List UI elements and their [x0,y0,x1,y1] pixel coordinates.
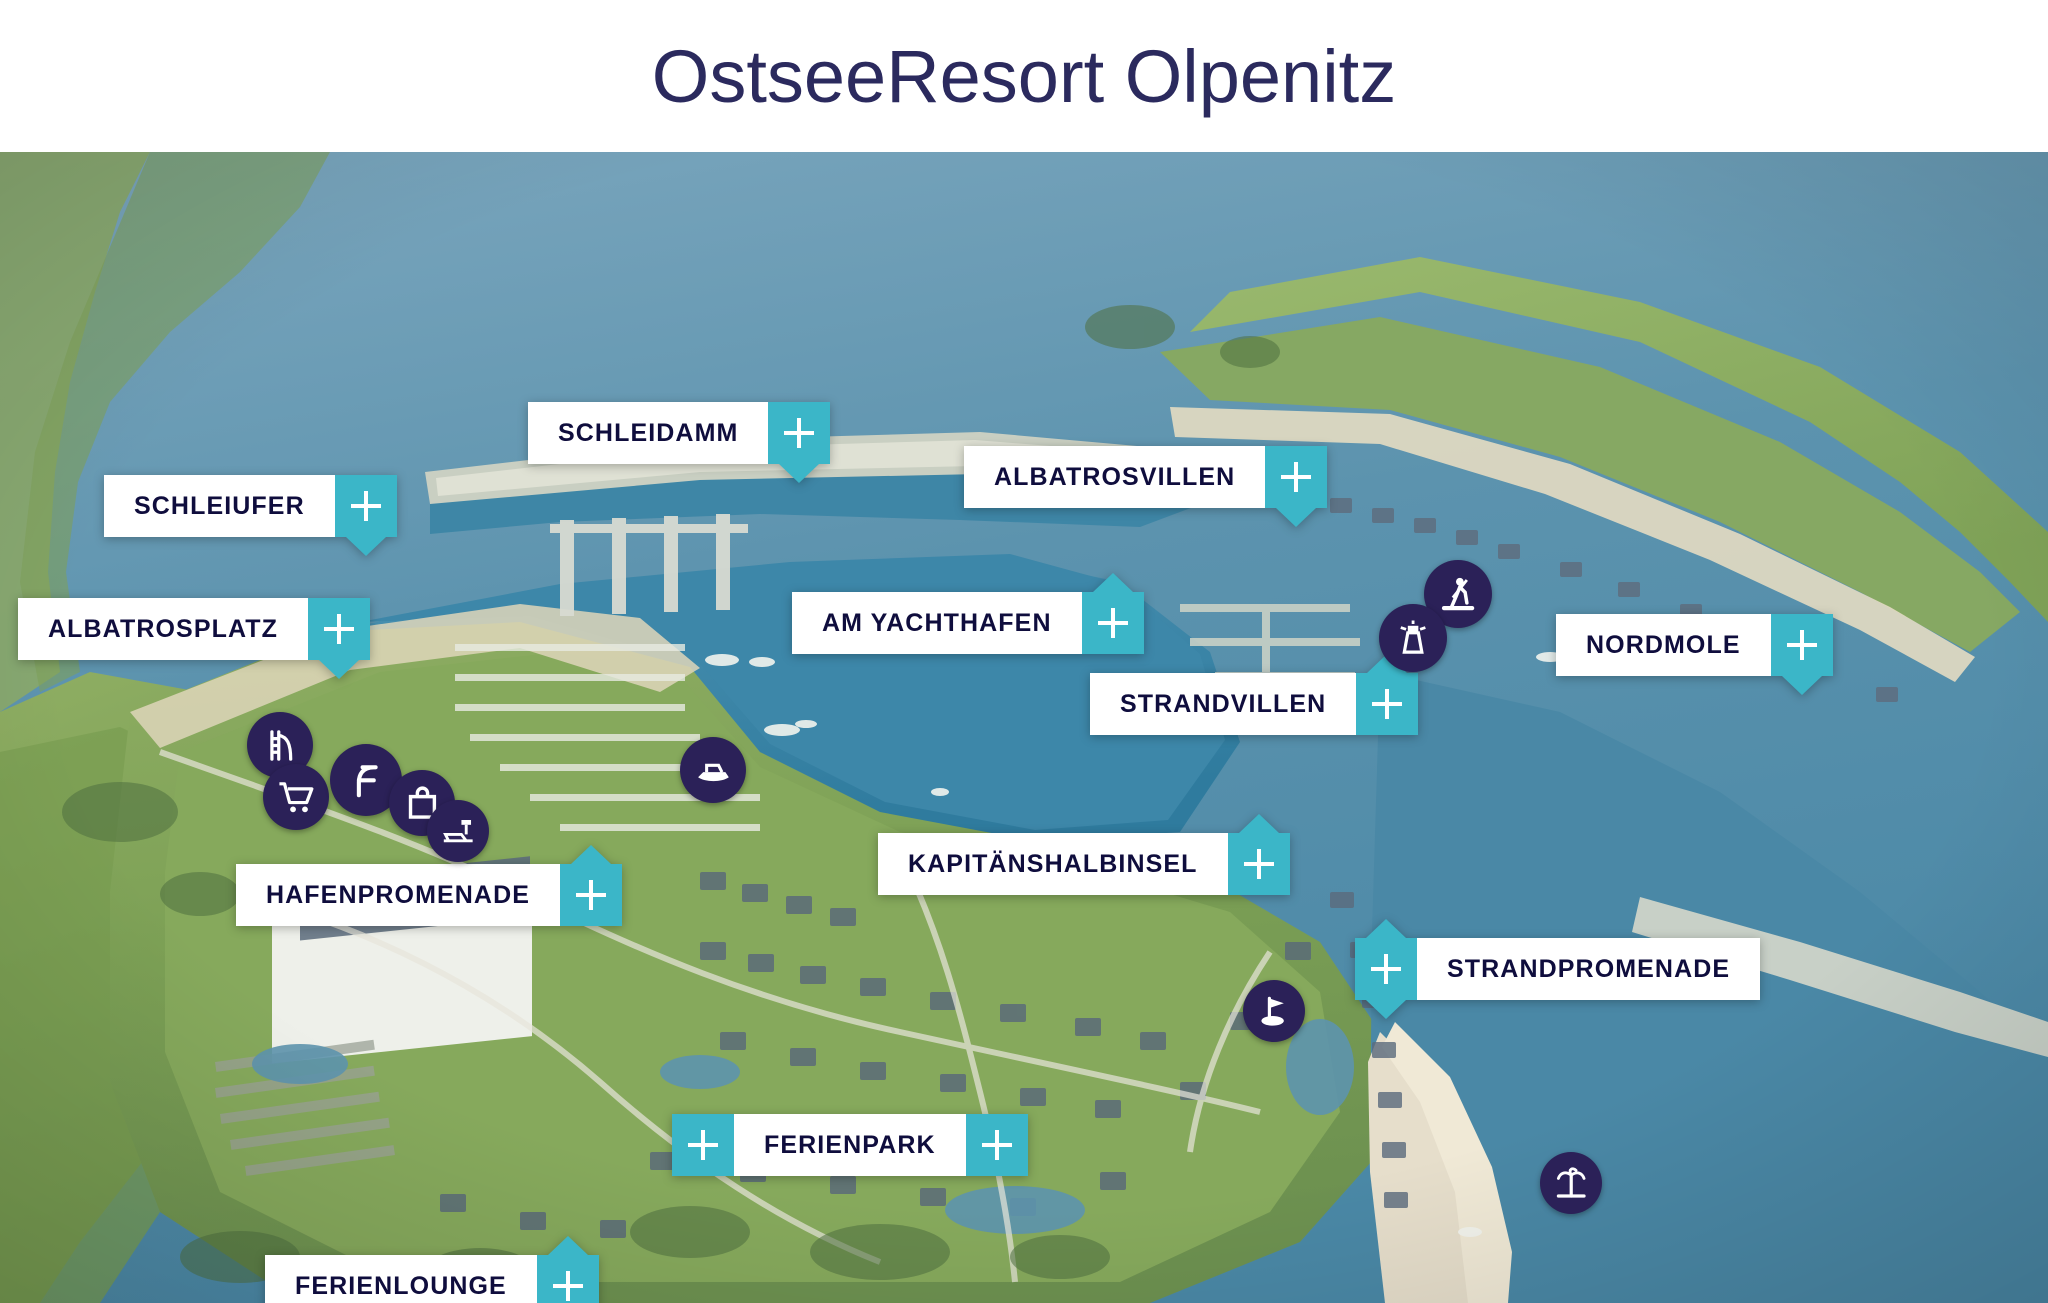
poi-pin-golf[interactable] [1243,980,1305,1042]
pointer-nub-down [779,464,819,483]
hotspot-label-box: KAPITÄNSHALBINSEL [878,833,1228,895]
plus-button-ferienpark[interactable] [966,1114,1028,1176]
hotspot-label-text: AM YACHTHAFEN [822,609,1052,638]
hotspot-label-box: NORDMOLE [1556,614,1771,676]
water-slide-icon [260,725,301,766]
hotspot-chip-albatrosvillen[interactable]: ALBATROSVILLEN [964,446,1327,508]
hotspot-label-box: AM YACHTHAFEN [792,592,1082,654]
hotspot-label-box: STRANDVILLEN [1090,673,1356,735]
hotspot-label-text: STRANDVILLEN [1120,690,1326,719]
hotspot-label-text: FERIENPARK [764,1131,936,1160]
hotspot-chip-kapitaenshalbinsel[interactable]: KAPITÄNSHALBINSEL [878,833,1290,895]
hotspot-label-box: HAFENPROMENADE [236,864,560,926]
page-header: OstseeResort Olpenitz [0,0,2048,152]
boat-ramp-icon [439,812,477,850]
pointer-nub-up [1093,573,1133,592]
poi-pin-beach[interactable] [1540,1152,1602,1214]
plus-button-kapitaenshalbinsel[interactable] [1228,833,1290,895]
hotspot-chip-strandvillen[interactable]: STRANDVILLEN [1090,673,1418,735]
poi-pin-marina-boat[interactable] [680,737,746,803]
plus-button-hafenpromenade[interactable] [560,864,622,926]
plus-button-schleiufer[interactable] [335,475,397,537]
plus-button-ferienpark[interactable] [672,1114,734,1176]
page-title: OstseeResort Olpenitz [652,34,1396,119]
hotspot-chip-strandpromenade[interactable]: STRANDPROMENADE [1355,938,1760,1000]
pointer-nub-down [346,537,386,556]
hotspot-label-text: HAFENPROMENADE [266,881,530,910]
golf-icon [1255,992,1293,1030]
plus-button-am-yachthafen[interactable] [1082,592,1144,654]
f-logo-icon [344,758,389,803]
pointer-nub-down [1366,1000,1406,1019]
hotspot-chip-hafenpromenade[interactable]: HAFENPROMENADE [236,864,622,926]
pointer-nub-up [1239,814,1279,833]
hotspot-label-box: SCHLEIUFER [104,475,335,537]
pointer-nub-down [1782,676,1822,695]
hotspot-chip-am-yachthafen[interactable]: AM YACHTHAFEN [792,592,1144,654]
hotspot-label-box: ALBATROSVILLEN [964,446,1265,508]
hotspot-label-text: STRANDPROMENADE [1447,955,1730,984]
lighthouse-icon [1392,617,1434,659]
hotspot-chip-nordmole[interactable]: NORDMOLE [1556,614,1833,676]
plus-button-schleidamm[interactable] [768,402,830,464]
hotspot-label-box: SCHLEIDAMM [528,402,768,464]
hotspot-label-box: ALBATROSPLATZ [18,598,308,660]
pointer-nub-up [1366,919,1406,938]
hotspot-label-text: NORDMOLE [1586,631,1741,660]
hotspot-label-text: SCHLEIDAMM [558,419,738,448]
plus-button-albatrosvillen[interactable] [1265,446,1327,508]
plus-button-ferienlounge[interactable] [537,1255,599,1303]
hotspot-label-text: SCHLEIUFER [134,492,305,521]
poi-pin-lighthouse[interactable] [1379,604,1447,672]
hotspot-chip-albatrosplatz[interactable]: ALBATROSPLATZ [18,598,370,660]
hotspot-label-text: ALBATROSVILLEN [994,463,1235,492]
palm-beach-icon [1552,1164,1590,1202]
hotspot-chip-schleidamm[interactable]: SCHLEIDAMM [528,402,830,464]
hotspot-label-text: FERIENLOUNGE [295,1272,507,1301]
poi-pin-boatramp[interactable] [427,800,489,862]
paddleboard-icon [1437,573,1479,615]
plus-button-strandpromenade[interactable] [1355,938,1417,1000]
hotspot-chip-schleiufer[interactable]: SCHLEIUFER [104,475,397,537]
plus-button-nordmole[interactable] [1771,614,1833,676]
plus-button-albatrosplatz[interactable] [308,598,370,660]
aerial-resort-map: SCHLEIDAMMSCHLEIUFERALBATROSVILLENALBATR… [0,152,2048,1303]
pointer-nub-down [319,660,359,679]
resort-map-page: OstseeResort Olpenitz [0,0,2048,1303]
pointer-nub-down [1276,508,1316,527]
shopping-cart-icon [276,777,317,818]
poi-pin-shopping[interactable] [263,764,329,830]
pointer-nub-up [548,1236,588,1255]
hotspot-label-box: FERIENLOUNGE [265,1255,537,1303]
plus-button-strandvillen[interactable] [1356,673,1418,735]
hotspot-label-text: KAPITÄNSHALBINSEL [908,850,1198,879]
hotspot-label-box: FERIENPARK [734,1114,966,1176]
motorboat-icon [693,750,734,791]
pointer-nub-up [571,845,611,864]
hotspot-label-text: ALBATROSPLATZ [48,615,278,644]
hotspot-chip-ferienlounge[interactable]: FERIENLOUNGE [265,1255,599,1303]
hotspot-chip-ferienpark[interactable]: FERIENPARK [672,1114,1028,1176]
hotspot-label-box: STRANDPROMENADE [1417,938,1760,1000]
